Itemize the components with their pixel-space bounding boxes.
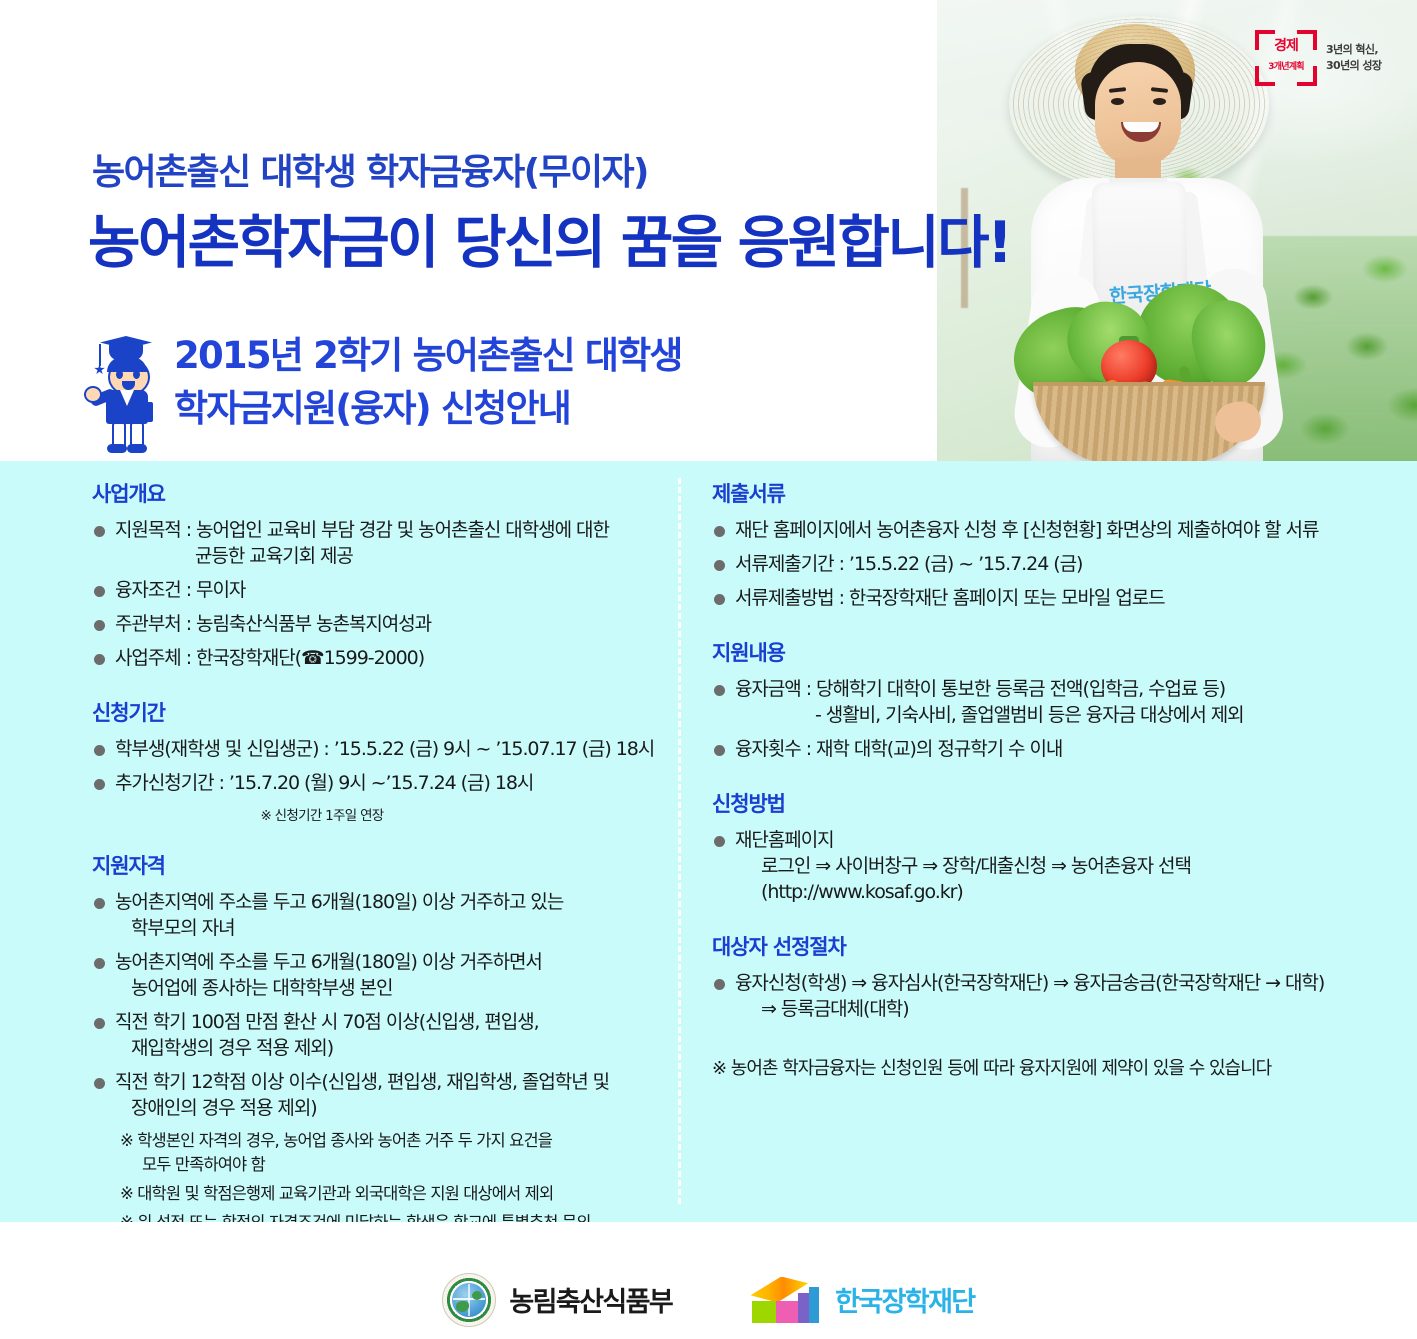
overview-item-2: 주관부처 : 농림축산식품부 농촌복지여성과 bbox=[115, 613, 431, 635]
how-to-apply-item-0: 재단홈페이지 bbox=[735, 829, 834, 851]
eye-right bbox=[1153, 98, 1166, 105]
section-how-to-apply: 신청방법 재단홈페이지 로그인 ⇒ 사이버창구 ⇒ 장학/대출신청 ⇒ 농어촌융… bbox=[712, 788, 1372, 905]
hero-subtitle: 2015년 2학기 농어촌출신 대학생 학자금지원(융자) 신청안내 bbox=[174, 330, 682, 435]
badge-mark-line1: 경제 bbox=[1262, 39, 1310, 53]
kosaf-cap-icon bbox=[744, 1275, 822, 1325]
right-tail-note: ※ 농어촌 학자금융자는 신청인원 등에 따라 융자지원에 제약이 있을 수 있… bbox=[712, 1054, 1372, 1080]
hero-subtitle-block: 2015년 2학기 농어촌출신 대학생 학자금지원(융자) 신청안내 bbox=[92, 330, 682, 454]
list-item: 융자조건 : 무이자 bbox=[92, 577, 662, 603]
ministry-logo: 농림축산식품부 bbox=[442, 1273, 672, 1327]
list-item: 직전 학기 12학점 이상 이수(신입생, 편입생, 재입학생, 졸업학년 및 … bbox=[92, 1069, 662, 1121]
overview-item-3: 사업주체 : 한국장학재단(☎1599-2000) bbox=[115, 647, 424, 669]
footer-logos: 농림축산식품부 한국장학재단 bbox=[0, 1222, 1417, 1339]
selection-list: 융자신청(학생) ⇒ 융자심사(한국장학재단) ⇒ 융자금송금(한국장학재단 →… bbox=[712, 970, 1372, 1022]
hero-subtitle-line1: 2015년 2학기 농어촌출신 대학생 bbox=[174, 330, 682, 383]
section-how-to-apply-heading: 신청방법 bbox=[712, 788, 1372, 818]
campaign-slogan: 3년의 혁신, 30년의 성장 bbox=[1326, 42, 1381, 74]
list-item: 지원목적 : 농어업인 교육비 부담 경감 및 농어촌출신 대학생에 대한 균등… bbox=[92, 517, 662, 569]
section-documents: 제출서류 재단 홈페이지에서 농어촌융자 신청 후 [신청현황] 화면상의 제출… bbox=[712, 478, 1372, 611]
how-to-apply-steps: 로그인 ⇒ 사이버창구 ⇒ 장학/대출신청 ⇒ 농어촌융자 선택 bbox=[735, 853, 1372, 879]
eligibility-list: 농어촌지역에 주소를 두고 6개월(180일) 이상 거주하고 있는 학부모의 … bbox=[92, 889, 662, 1121]
eligibility-item-0: 농어촌지역에 주소를 두고 6개월(180일) 이상 거주하고 있는 bbox=[115, 891, 563, 913]
mascot-hand bbox=[84, 386, 102, 403]
support-item-0-sub: - 생활비, 기숙사비, 졸업앨범비 등은 융자금 대상에서 제외 bbox=[735, 702, 1372, 728]
eligibility-note-0: ※ 학생본인 자격의 경우, 농어업 종사와 농어촌 거주 두 가지 요건을 모… bbox=[92, 1129, 662, 1177]
list-item: 재단홈페이지 로그인 ⇒ 사이버창구 ⇒ 장학/대출신청 ⇒ 농어촌융자 선택 … bbox=[712, 827, 1372, 905]
list-item: 재단 홈페이지에서 농어촌융자 신청 후 [신청현황] 화면상의 제출하여야 할… bbox=[712, 517, 1372, 543]
mascot-star-icon bbox=[94, 364, 105, 375]
selection-item-0-sub: ⇒ 등록금대체(대학) bbox=[735, 996, 1372, 1022]
foundation-label: 한국장학재단 bbox=[835, 1280, 974, 1319]
list-item: 학부생(재학생 및 신입생군) : ’15.5.22 (금) 9시 ~ ’15.… bbox=[92, 736, 662, 762]
left-column: 사업개요 지원목적 : 농어업인 교육비 부담 경감 및 농어촌출신 대학생에 … bbox=[92, 478, 662, 1261]
documents-list: 재단 홈페이지에서 농어촌융자 신청 후 [신청현황] 화면상의 제출하여야 할… bbox=[712, 517, 1372, 611]
list-item: 농어촌지역에 주소를 두고 6개월(180일) 이상 거주하면서 농어업에 종사… bbox=[92, 949, 662, 1001]
kosaf-block-purple bbox=[798, 1293, 809, 1323]
overview-item-1: 융자조건 : 무이자 bbox=[115, 579, 245, 601]
mascot-hair bbox=[107, 357, 147, 372]
poster-root: 한국장학재단 경 bbox=[0, 0, 1417, 1339]
section-documents-heading: 제출서류 bbox=[712, 478, 1372, 508]
kosaf-block-pink bbox=[776, 1301, 798, 1323]
globe-longitude bbox=[468, 1284, 470, 1316]
overview-list: 지원목적 : 농어업인 교육비 부담 경감 및 농어촌출신 대학생에 대한 균등… bbox=[92, 517, 662, 671]
eligibility-note-0-sub: 모두 만족하여야 함 bbox=[120, 1153, 662, 1177]
kosaf-website-link[interactable]: (http://www.kosaf.go.kr) bbox=[735, 879, 1372, 905]
mascot-eye-right bbox=[133, 370, 140, 379]
list-item: 추가신청기간 : ’15.7.20 (월) 9시 ~’15.7.24 (금) 1… bbox=[92, 770, 662, 796]
eligibility-note-0-text: ※ 학생본인 자격의 경우, 농어업 종사와 농어촌 거주 두 가지 요건을 bbox=[120, 1131, 552, 1150]
selection-item-0: 융자신청(학생) ⇒ 융자심사(한국장학재단) ⇒ 융자금송금(한국장학재단 →… bbox=[735, 972, 1324, 994]
list-item: 서류제출방법 : 한국장학재단 홈페이지 또는 모바일 업로드 bbox=[712, 585, 1372, 611]
right-column: 제출서류 재단 홈페이지에서 농어촌융자 신청 후 [신청현황] 화면상의 제출… bbox=[712, 478, 1372, 1106]
support-item-1: 융자횟수 : 재학 대학(교)의 정규학기 수 이내 bbox=[735, 738, 1062, 760]
face bbox=[1095, 62, 1181, 166]
teeth bbox=[1123, 122, 1159, 132]
overview-item-0: 지원목적 : 농어업인 교육비 부담 경감 및 농어촌출신 대학생에 대한 bbox=[115, 519, 609, 541]
mascot-tassel bbox=[99, 344, 101, 366]
kosaf-block-green bbox=[752, 1301, 776, 1323]
section-overview-heading: 사업개요 bbox=[92, 478, 662, 508]
campaign-bracket-mark: 경제 3개년계획 bbox=[1255, 30, 1317, 86]
documents-item-0: 재단 홈페이지에서 농어촌융자 신청 후 [신청현황] 화면상의 제출하여야 할… bbox=[735, 519, 1318, 541]
period-small-note: ※ 신청기간 1주일 연장 bbox=[92, 804, 662, 824]
eligibility-item-2-sub: 재입학생의 경우 적용 제외) bbox=[115, 1035, 662, 1061]
section-eligibility: 지원자격 농어촌지역에 주소를 두고 6개월(180일) 이상 거주하고 있는 … bbox=[92, 850, 662, 1235]
campaign-badge: 경제 3개년계획 3년의 혁신, 30년의 성장 bbox=[1255, 27, 1395, 89]
period-item-0: 학부생(재학생 및 신입생군) : ’15.5.22 (금) 9시 ~ ’15.… bbox=[115, 738, 654, 760]
eligibility-note-1: ※ 대학원 및 학점은행제 교육기관과 외국대학은 지원 대상에서 제외 bbox=[92, 1182, 662, 1206]
ministry-seal-icon bbox=[442, 1273, 496, 1327]
globe-landmass-2 bbox=[472, 1291, 482, 1300]
hero-subtitle-line2: 학자금지원(융자) 신청안내 bbox=[174, 383, 682, 436]
mascot-shoe-right bbox=[127, 444, 147, 453]
mascot-eye-left bbox=[116, 370, 123, 379]
ministry-label: 농림축산식품부 bbox=[509, 1280, 672, 1319]
list-item: 주관부처 : 농림축산식품부 농촌복지여성과 bbox=[92, 611, 662, 637]
eligibility-item-3: 직전 학기 12학점 이상 이수(신입생, 편입생, 재입학생, 졸업학년 및 bbox=[115, 1071, 609, 1093]
period-list: 학부생(재학생 및 신입생군) : ’15.5.22 (금) 9시 ~ ’15.… bbox=[92, 736, 662, 796]
eligibility-item-3-sub: 장애인의 경우 적용 제외) bbox=[115, 1095, 662, 1121]
list-item: 서류제출기간 : ’15.5.22 (금) ~ ’15.7.24 (금) bbox=[712, 551, 1372, 577]
kosaf-block-blue bbox=[809, 1287, 819, 1323]
campaign-slogan-line1: 3년의 혁신, bbox=[1326, 42, 1381, 58]
section-period: 신청기간 학부생(재학생 및 신입생군) : ’15.5.22 (금) 9시 ~… bbox=[92, 697, 662, 824]
list-item: 농어촌지역에 주소를 두고 6개월(180일) 이상 거주하고 있는 학부모의 … bbox=[92, 889, 662, 941]
badge-mark-sub: 3개년계획 bbox=[1262, 63, 1310, 72]
list-item: 융자금액 : 당해학기 대학이 통보한 등록금 전액(입학금, 수업료 등) -… bbox=[712, 676, 1372, 728]
hero-kicker: 농어촌출신 대학생 학자금융자(무이자) bbox=[92, 143, 648, 195]
column-divider bbox=[678, 478, 681, 1204]
list-item: 융자횟수 : 재학 대학(교)의 정규학기 수 이내 bbox=[712, 736, 1372, 762]
hero-section: 한국장학재단 경 bbox=[0, 0, 1417, 461]
eligibility-item-1-sub: 농어업에 종사하는 대학학부생 본인 bbox=[115, 975, 662, 1001]
graduate-mascot-icon bbox=[92, 330, 160, 454]
list-item: 사업주체 : 한국장학재단(☎1599-2000) bbox=[92, 645, 662, 671]
section-selection-heading: 대상자 선정절차 bbox=[712, 931, 1372, 961]
section-support-heading: 지원내용 bbox=[712, 637, 1372, 667]
eligibility-item-0-sub: 학부모의 자녀 bbox=[115, 915, 662, 941]
overview-item-0-sub: 균등한 교육기회 제공 bbox=[115, 543, 662, 569]
eligibility-item-2: 직전 학기 100점 만점 환산 시 70점 이상(신입생, 편입생, bbox=[115, 1011, 539, 1033]
documents-item-2: 서류제출방법 : 한국장학재단 홈페이지 또는 모바일 업로드 bbox=[735, 587, 1165, 609]
foundation-logo: 한국장학재단 bbox=[744, 1275, 974, 1325]
list-item: 직전 학기 100점 만점 환산 시 70점 이상(신입생, 편입생, 재입학생… bbox=[92, 1009, 662, 1061]
section-support: 지원내용 융자금액 : 당해학기 대학이 통보한 등록금 전액(입학금, 수업료… bbox=[712, 637, 1372, 762]
mascot-book-icon bbox=[140, 402, 153, 422]
campaign-slogan-line2: 30년의 성장 bbox=[1326, 58, 1381, 74]
eye-left bbox=[1111, 98, 1124, 105]
mascot-shoe-left bbox=[107, 444, 127, 453]
support-item-0: 융자금액 : 당해학기 대학이 통보한 등록금 전액(입학금, 수업료 등) bbox=[735, 678, 1225, 700]
section-selection: 대상자 선정절차 융자신청(학생) ⇒ 융자심사(한국장학재단) ⇒ 융자금송금… bbox=[712, 931, 1372, 1080]
period-item-1: 추가신청기간 : ’15.7.20 (월) 9시 ~’15.7.24 (금) 1… bbox=[115, 772, 533, 794]
section-overview: 사업개요 지원목적 : 농어업인 교육비 부담 경감 및 농어촌출신 대학생에 … bbox=[92, 478, 662, 671]
eligibility-item-1: 농어촌지역에 주소를 두고 6개월(180일) 이상 거주하면서 bbox=[115, 951, 542, 973]
documents-item-1: 서류제출기간 : ’15.5.22 (금) ~ ’15.7.24 (금) bbox=[735, 553, 1082, 575]
section-eligibility-heading: 지원자격 bbox=[92, 850, 662, 880]
list-item: 융자신청(학생) ⇒ 융자심사(한국장학재단) ⇒ 융자금송금(한국장학재단 →… bbox=[712, 970, 1372, 1022]
support-list: 융자금액 : 당해학기 대학이 통보한 등록금 전액(입학금, 수업료 등) -… bbox=[712, 676, 1372, 762]
how-to-apply-list: 재단홈페이지 로그인 ⇒ 사이버창구 ⇒ 장학/대출신청 ⇒ 농어촌융자 선택 … bbox=[712, 827, 1372, 905]
hero-headline: 농어촌학자금이 당신의 꿈을 응원합니다! bbox=[88, 197, 1010, 279]
globe-icon bbox=[452, 1283, 486, 1317]
section-period-heading: 신청기간 bbox=[92, 697, 662, 727]
